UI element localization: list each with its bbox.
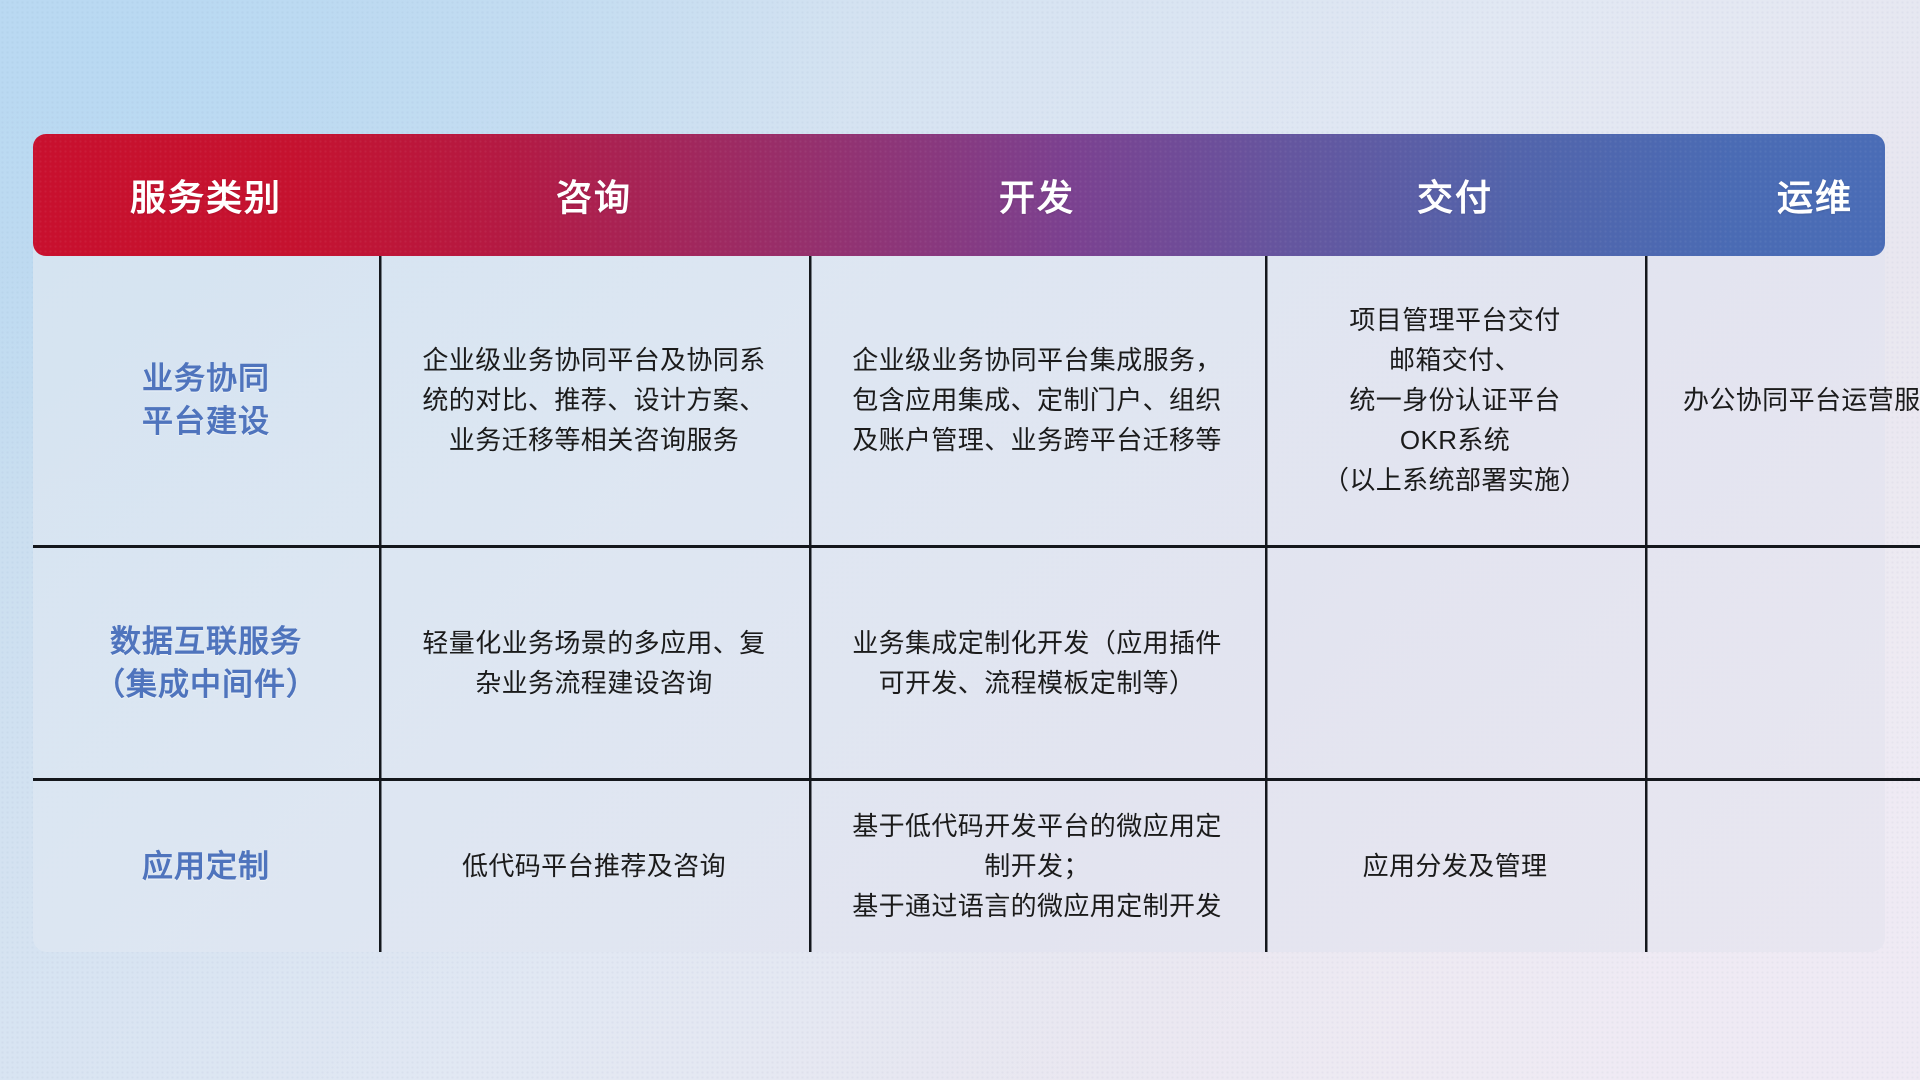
table-row: 业务协同 平台建设 企业级业务协同平台及协同系 统的对比、推荐、设计方案、 业务… — [33, 256, 1920, 546]
column-header-operations-label: 运维 — [1777, 177, 1853, 218]
column-header-development: 开发 — [809, 134, 1265, 256]
cell-line: 可开发、流程模板定制等） — [819, 663, 1255, 703]
table-row: 数据互联服务 （集成中间件） 轻量化业务场景的多应用、复 杂业务流程建设咨询 业… — [33, 546, 1920, 779]
cell-development: 企业级业务协同平台集成服务， 包含应用集成、定制门户、组织 及账户管理、业务跨平… — [809, 256, 1265, 546]
table-body: 业务协同 平台建设 企业级业务协同平台及协同系 统的对比、推荐、设计方案、 业务… — [33, 256, 1920, 952]
cell-consulting: 低代码平台推荐及咨询 — [379, 779, 809, 952]
service-category-table: 服务类别 咨询 开发 交付 运维 — [33, 134, 1920, 952]
cell-line: 制开发； — [819, 846, 1255, 886]
column-header-category-label: 服务类别 — [130, 177, 282, 218]
cell-line: 杂业务流程建设咨询 — [389, 663, 799, 703]
cell-line: 及账户管理、业务跨平台迁移等 — [819, 420, 1255, 460]
column-header-delivery-label: 交付 — [1417, 177, 1493, 218]
cell-line: 统一身份认证平台 — [1275, 380, 1635, 420]
cell-line: 企业级业务协同平台及协同系 — [389, 340, 799, 380]
cell-operations — [1645, 779, 1920, 952]
cell-development: 基于低代码开发平台的微应用定 制开发； 基于通过语言的微应用定制开发 — [809, 779, 1265, 952]
cell-operations: 办公协同平台运营服务 — [1645, 256, 1920, 546]
cell-development: 业务集成定制化开发（应用插件 可开发、流程模板定制等） — [809, 546, 1265, 779]
column-header-consulting-label: 咨询 — [556, 177, 632, 218]
table-header-row: 服务类别 咨询 开发 交付 运维 — [33, 134, 1920, 256]
row-category-line: 数据互联服务 — [43, 620, 369, 663]
cell-line: （以上系统部署实施） — [1275, 460, 1635, 500]
cell-line: 统的对比、推荐、设计方案、 — [389, 380, 799, 420]
column-header-operations: 运维 — [1645, 134, 1920, 256]
cell-line: 基于低代码开发平台的微应用定 — [819, 806, 1255, 846]
table-header: 服务类别 咨询 开发 交付 运维 — [33, 134, 1920, 256]
cell-line: 基于通过语言的微应用定制开发 — [819, 886, 1255, 926]
cell-line: 企业级业务协同平台集成服务， — [819, 340, 1255, 380]
column-header-development-label: 开发 — [999, 177, 1075, 218]
row-category-line: 平台建设 — [43, 400, 369, 443]
row-category-line: （集成中间件） — [43, 663, 369, 706]
cell-line: 办公协同平台运营服务 — [1655, 380, 1920, 420]
column-header-category: 服务类别 — [33, 134, 379, 256]
table-row: 应用定制 低代码平台推荐及咨询 基于低代码开发平台的微应用定 制开发； 基于通过… — [33, 779, 1920, 952]
cell-consulting: 企业级业务协同平台及协同系 统的对比、推荐、设计方案、 业务迁移等相关咨询服务 — [379, 256, 809, 546]
cell-delivery: 项目管理平台交付 邮箱交付、 统一身份认证平台 OKR系统 （以上系统部署实施） — [1265, 256, 1645, 546]
cell-line: 轻量化业务场景的多应用、复 — [389, 623, 799, 663]
column-header-delivery: 交付 — [1265, 134, 1645, 256]
cell-line: 业务迁移等相关咨询服务 — [389, 420, 799, 460]
column-header-consulting: 咨询 — [379, 134, 809, 256]
cell-line: 包含应用集成、定制门户、组织 — [819, 380, 1255, 420]
row-category-label: 业务协同 平台建设 — [33, 256, 379, 546]
row-category-line: 应用定制 — [43, 845, 369, 888]
row-category-label: 应用定制 — [33, 779, 379, 952]
service-category-table-wrapper: 服务类别 咨询 开发 交付 运维 — [33, 134, 1885, 952]
cell-delivery: 应用分发及管理 — [1265, 779, 1645, 952]
cell-line: 应用分发及管理 — [1275, 846, 1635, 886]
row-category-line: 业务协同 — [43, 357, 369, 400]
cell-operations — [1645, 546, 1920, 779]
cell-line: 邮箱交付、 — [1275, 340, 1635, 380]
cell-line: 项目管理平台交付 — [1275, 300, 1635, 340]
cell-consulting: 轻量化业务场景的多应用、复 杂业务流程建设咨询 — [379, 546, 809, 779]
cell-line: 低代码平台推荐及咨询 — [389, 846, 799, 886]
row-category-label: 数据互联服务 （集成中间件） — [33, 546, 379, 779]
slide-canvas: 服务类别 咨询 开发 交付 运维 — [0, 0, 1920, 1080]
cell-line: OKR系统 — [1275, 420, 1635, 460]
cell-line: 业务集成定制化开发（应用插件 — [819, 623, 1255, 663]
cell-delivery — [1265, 546, 1645, 779]
